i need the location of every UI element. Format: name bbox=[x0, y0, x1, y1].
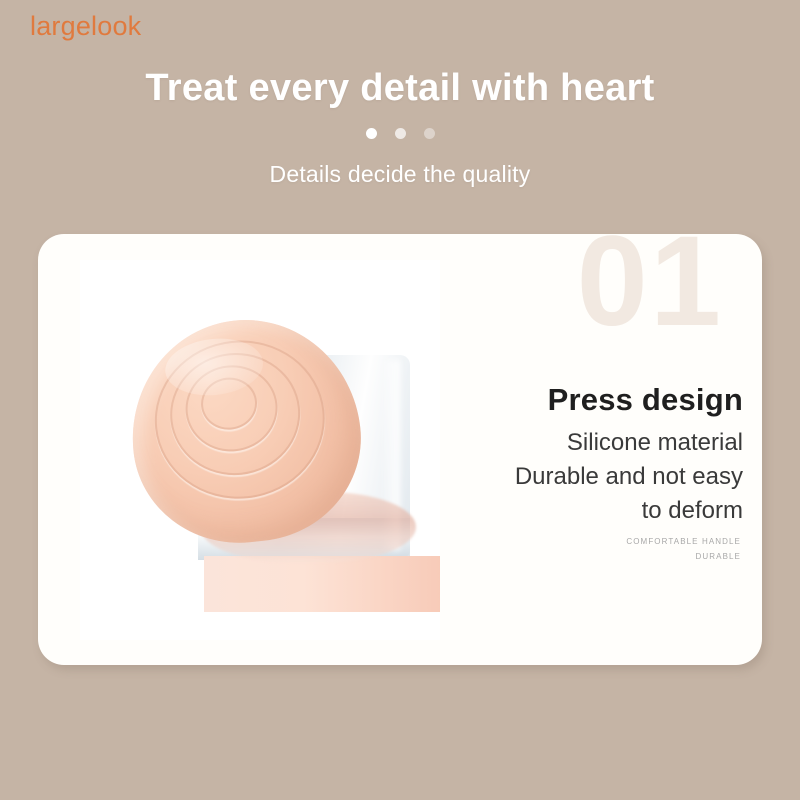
carousel-dot-2[interactable] bbox=[395, 128, 406, 139]
carousel-dot-3[interactable] bbox=[424, 128, 435, 139]
feature-description-line-1: Silicone material bbox=[413, 426, 743, 460]
page-subtitle: Details decide the quality bbox=[0, 161, 800, 188]
feature-card: 01 Press design Silicone material Durabl… bbox=[38, 234, 762, 665]
feature-description: Silicone material Durable and not easy t… bbox=[413, 426, 743, 528]
micro-copy-line-1: COMFORTABLE HANDLE bbox=[411, 534, 741, 549]
micro-copy-line-2: DURABLE bbox=[411, 549, 741, 564]
carousel-dots[interactable] bbox=[0, 128, 800, 140]
feature-title: Press design bbox=[413, 382, 743, 418]
feature-number: 01 bbox=[577, 234, 723, 346]
page-title: Treat every detail with heart bbox=[0, 68, 800, 110]
cream-base-shape bbox=[204, 556, 440, 612]
product-image bbox=[80, 260, 440, 640]
feature-info: 01 Press design Silicone material Durabl… bbox=[413, 234, 743, 665]
carousel-dot-1[interactable] bbox=[366, 128, 377, 139]
feature-description-line-2: Durable and not easy bbox=[413, 460, 743, 494]
page-header: Treat every detail with heart Details de… bbox=[0, 0, 800, 188]
feature-micro-copy: COMFORTABLE HANDLE DURABLE bbox=[411, 534, 741, 564]
feature-description-line-3: to deform bbox=[413, 494, 743, 528]
